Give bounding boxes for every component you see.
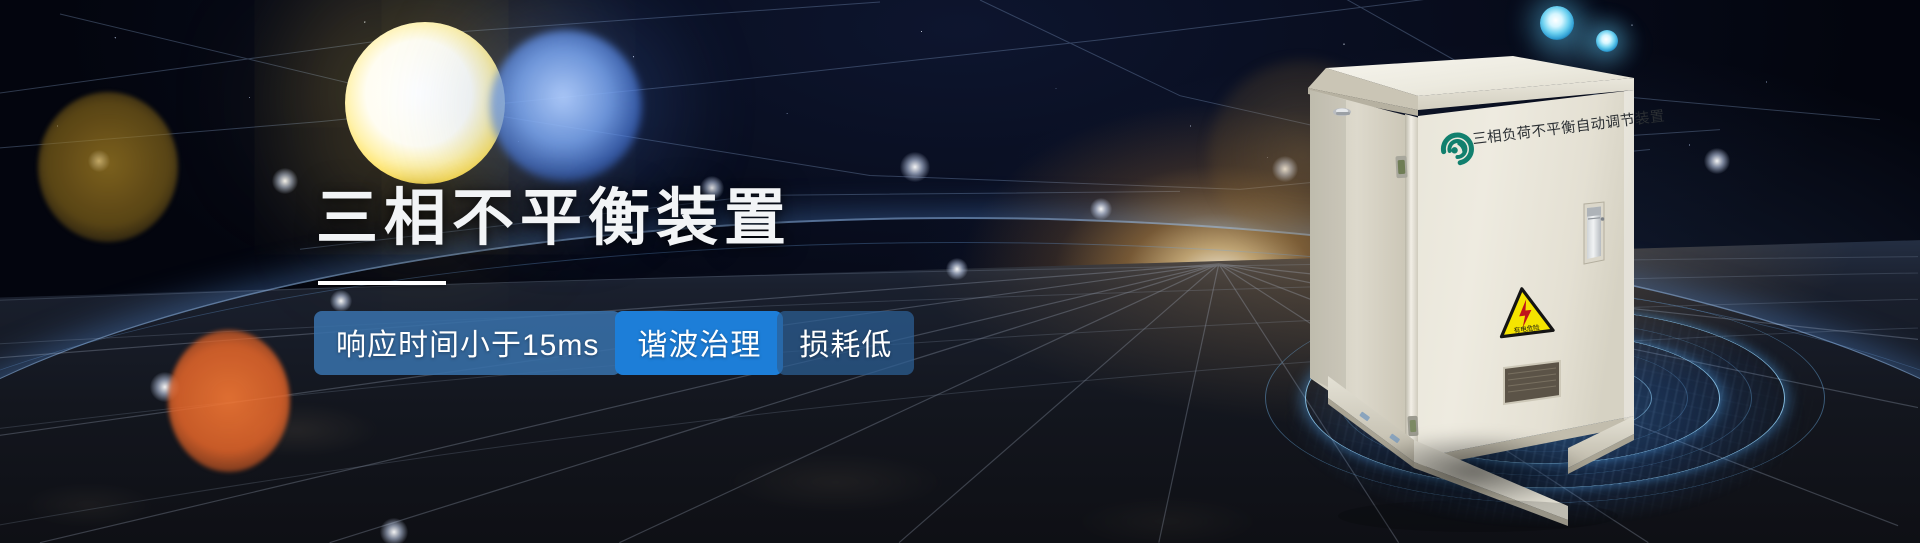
feature-tag-response-time[interactable]: 响应时间小于15ms bbox=[314, 311, 621, 375]
nameplate-vent bbox=[1504, 361, 1560, 404]
hero-banner: 三相不平衡装置 响应时间小于15ms 谐波治理 损耗低 bbox=[0, 0, 1920, 543]
side-latch-knob bbox=[1333, 108, 1351, 116]
feature-tag-list: 响应时间小于15ms 谐波治理 损耗低 bbox=[314, 311, 1076, 375]
hinge-upper bbox=[1395, 156, 1407, 179]
product-cabinet[interactable]: 三相负荷不平衡自动调节装置 有电危险 bbox=[1268, 16, 1688, 536]
feature-tag-harmonic-treatment[interactable]: 谐波治理 bbox=[615, 311, 783, 375]
product-ground-shadow bbox=[1308, 416, 1638, 526]
copy-block: 三相不平衡装置 响应时间小于15ms 谐波治理 损耗低 bbox=[316, 186, 1076, 375]
door-handle bbox=[1584, 202, 1604, 264]
page-title: 三相不平衡装置 bbox=[316, 186, 1076, 253]
feature-tag-low-loss[interactable]: 损耗低 bbox=[777, 311, 914, 375]
cabinet-door-jamb bbox=[1405, 114, 1420, 456]
title-divider bbox=[318, 281, 446, 285]
